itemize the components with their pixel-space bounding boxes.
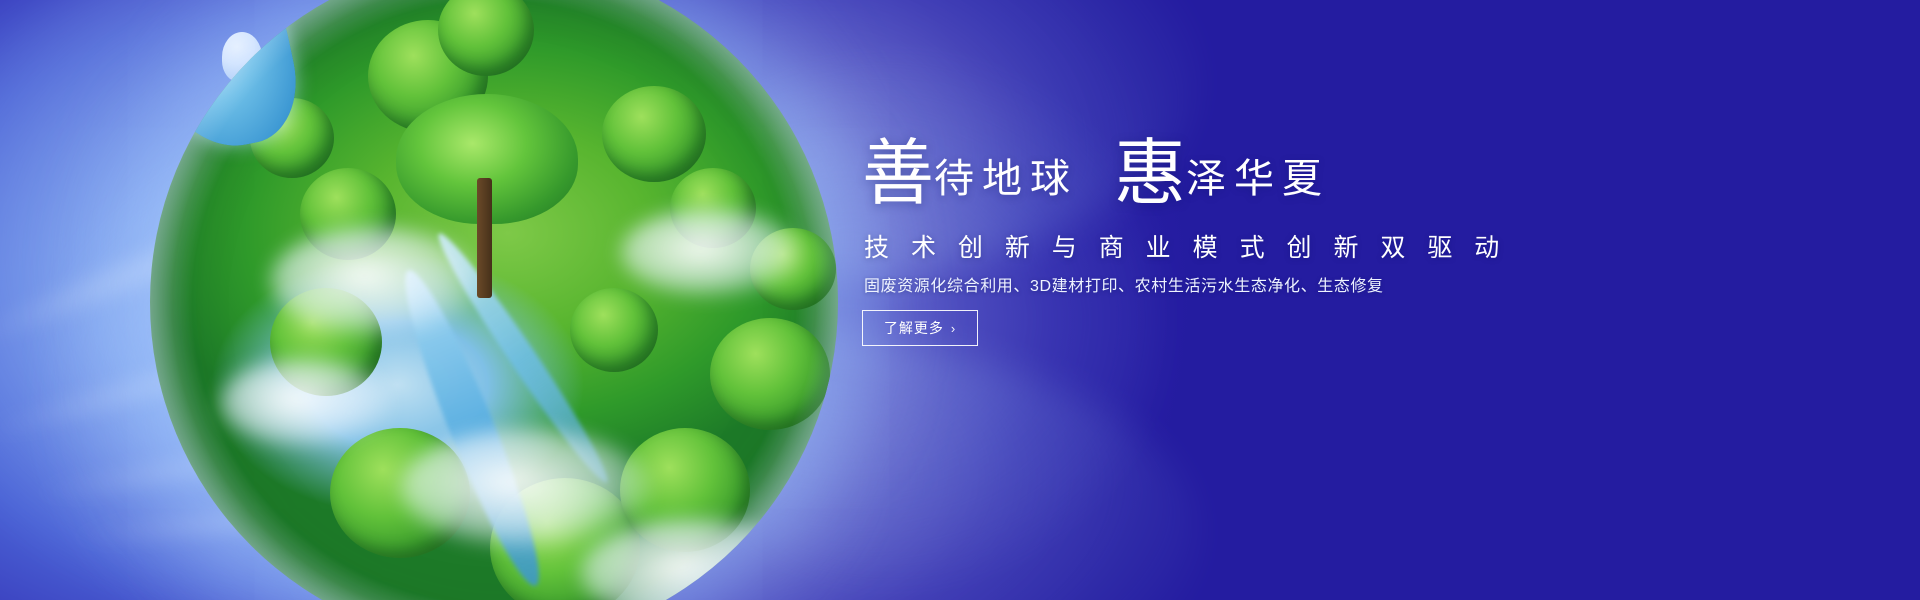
page-title: 善待地球惠泽华夏 [862, 138, 1330, 210]
chevron-right-icon: › [951, 322, 956, 335]
hero-content: 善待地球惠泽华夏 技 术 创 新 与 商 业 模 式 创 新 双 驱 动 固废资… [862, 0, 1562, 600]
hero-banner: 善待地球惠泽华夏 技 术 创 新 与 商 业 模 式 创 新 双 驱 动 固废资… [0, 0, 1920, 600]
hero-description: 固废资源化综合利用、3D建材打印、农村生活污水生态净化、生态修复 [864, 272, 1384, 296]
planet-atmosphere-glow [150, 0, 838, 600]
learn-more-label: 了解更多 [884, 318, 944, 338]
headline-char-large-1: 善 [862, 134, 934, 214]
little-planet-earth [150, 0, 838, 600]
hero-subtitle: 技 术 创 新 与 商 业 模 式 创 新 双 驱 动 [864, 228, 1507, 264]
headline-text-small-2: 泽华夏 [1186, 156, 1330, 201]
headline-text-small-1: 待地球 [934, 156, 1078, 201]
headline-char-large-2: 惠 [1114, 134, 1186, 214]
learn-more-button[interactable]: 了解更多 › [862, 310, 978, 346]
